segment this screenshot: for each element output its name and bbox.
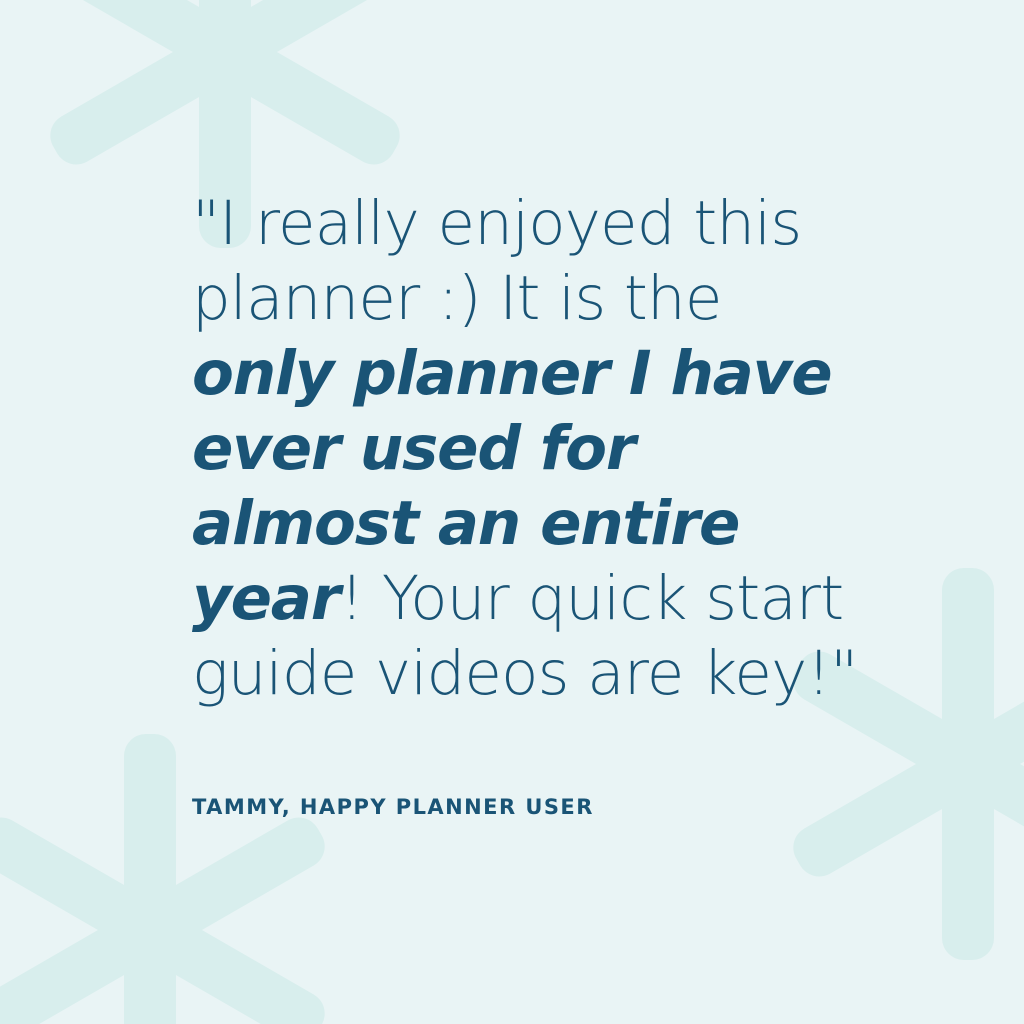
attribution-label: TAMMY, HAPPY PLANNER USER: [192, 795, 872, 819]
quote-text: "I really enjoyed this planner :) It is …: [192, 186, 872, 711]
quote-segment-leading: "I really enjoyed this planner :) It is …: [192, 188, 820, 334]
testimonial-content: "I really enjoyed this planner :) It is …: [192, 186, 872, 819]
testimonial-card: "I really enjoyed this planner :) It is …: [0, 0, 1024, 1024]
